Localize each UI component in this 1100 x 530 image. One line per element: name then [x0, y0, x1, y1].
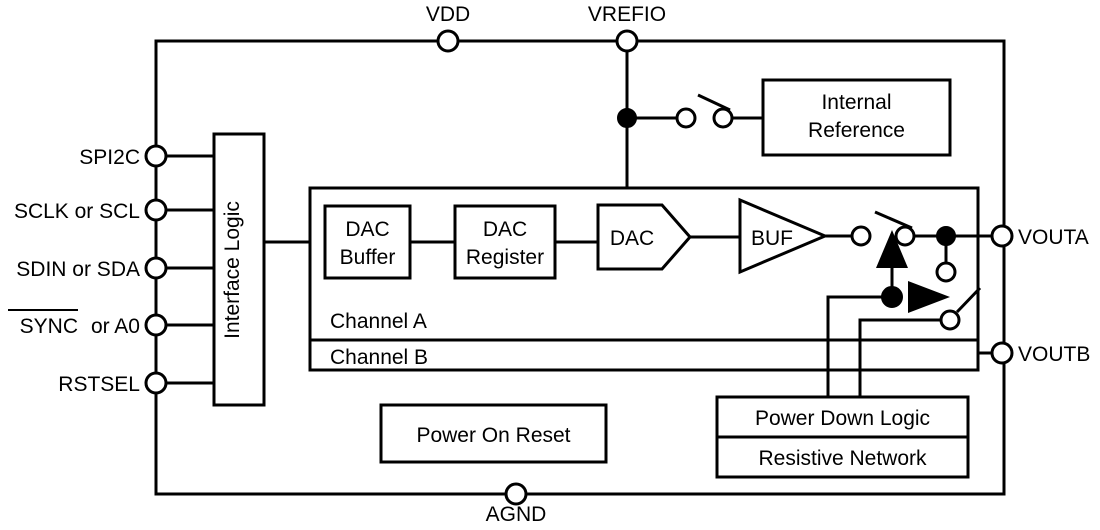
vdd-pin-label: VDD	[426, 3, 470, 26]
pin-spi2c[interactable]: SPI2C	[79, 146, 166, 169]
channel-b-label: Channel B	[330, 346, 428, 369]
resistive-network: Resistive Network	[717, 437, 968, 477]
block-diagram-canvas: Internal Reference VDD VREFIO SPI2C SCLK…	[0, 0, 1100, 530]
power-down-logic: Power Down Logic	[717, 397, 968, 437]
internal-reference-label-line1: Internal	[821, 91, 891, 114]
ref-switch-blade[interactable]	[698, 95, 730, 110]
functional-block-diagram: Internal Reference VDD VREFIO SPI2C SCLK…	[0, 0, 1100, 530]
sdin-sda-pin-circle[interactable]	[146, 258, 166, 278]
interface-logic-label: Interface Logic	[221, 201, 244, 339]
dac-register: DAC Register	[455, 206, 555, 278]
ref-switch-left-terminal[interactable]	[677, 109, 695, 127]
vouta-junction-dot	[937, 227, 955, 245]
sync-a0-pin-circle[interactable]	[146, 315, 166, 335]
left-pin-wires	[166, 156, 214, 383]
reference-enable-switch[interactable]	[677, 95, 763, 127]
sdin-sda-pin-label: SDIN or SDA	[16, 258, 140, 281]
vdd-pin-circle[interactable]	[438, 31, 458, 51]
vrefio-junction-dot	[618, 109, 636, 127]
internal-reference-label-line2: Reference	[808, 119, 905, 142]
pin-vdd[interactable]: VDD	[426, 3, 470, 51]
dac-buffer-label-line1: DAC	[345, 218, 389, 241]
pin-voutb[interactable]: VOUTB	[992, 343, 1090, 366]
interface-logic: Interface Logic	[214, 134, 264, 405]
sclk-scl-pin-circle[interactable]	[146, 200, 166, 220]
pin-agnd[interactable]: AGND	[486, 484, 547, 526]
vrefio-pin-label: VREFIO	[588, 3, 666, 26]
vouta-pin-circle[interactable]	[992, 226, 1012, 246]
dac-register-label-line2: Register	[466, 246, 544, 269]
agnd-pin-label: AGND	[486, 503, 547, 526]
pin-sync-a0[interactable]: or A0 SYNC	[8, 310, 166, 338]
voutb-pin-label: VOUTB	[1018, 343, 1090, 366]
resistive-network-label: Resistive Network	[758, 447, 927, 470]
pin-sdin-sda[interactable]: SDIN or SDA	[16, 258, 166, 281]
vouta-switch-right-terminal[interactable]	[896, 227, 914, 245]
output-buffer-label: BUF	[751, 227, 793, 250]
dac-core-label: DAC	[610, 227, 654, 250]
channel-b: Channel B	[310, 340, 978, 370]
ref-switch-right-terminal[interactable]	[714, 109, 732, 127]
vouta-pulldown-switch[interactable]	[937, 263, 955, 281]
pin-vouta[interactable]: VOUTA	[992, 226, 1089, 249]
sync-a0-suffix-label: or A0	[91, 315, 140, 338]
vouta-switch-left-terminal[interactable]	[852, 227, 870, 245]
rstsel-pin-label: RSTSEL	[58, 373, 140, 396]
vouta-pulldown-terminal[interactable]	[937, 263, 955, 281]
sclk-scl-pin-label: SCLK or SCL	[14, 200, 140, 223]
internal-reference: Internal Reference	[763, 80, 950, 155]
power-down-logic-label: Power Down Logic	[755, 407, 930, 430]
pin-vrefio[interactable]: VREFIO	[588, 3, 666, 51]
power-on-reset: Power On Reset	[381, 405, 606, 462]
channel-a-label: Channel A	[330, 310, 427, 333]
vrefio-branch	[618, 41, 686, 188]
pin-rstsel[interactable]: RSTSEL	[58, 373, 166, 396]
sync-a0-pin-label: SYNC	[20, 315, 78, 338]
voutb-pin-circle[interactable]	[992, 343, 1012, 363]
vouta-pin-label: VOUTA	[1018, 226, 1089, 249]
voutb-switch-terminal[interactable]	[941, 311, 959, 329]
dac-buffer-label-line2: Buffer	[340, 246, 396, 269]
dac-buffer: DAC Buffer	[325, 206, 410, 278]
vrefio-pin-circle[interactable]	[617, 31, 637, 51]
power-on-reset-label: Power On Reset	[416, 424, 570, 447]
dac-register-label-line1: DAC	[483, 218, 527, 241]
spi2c-pin-label: SPI2C	[79, 146, 140, 169]
agnd-pin-circle[interactable]	[506, 484, 526, 504]
rstsel-pin-circle[interactable]	[146, 373, 166, 393]
spi2c-pin-circle[interactable]	[146, 146, 166, 166]
pin-sclk-scl[interactable]: SCLK or SCL	[14, 200, 166, 223]
